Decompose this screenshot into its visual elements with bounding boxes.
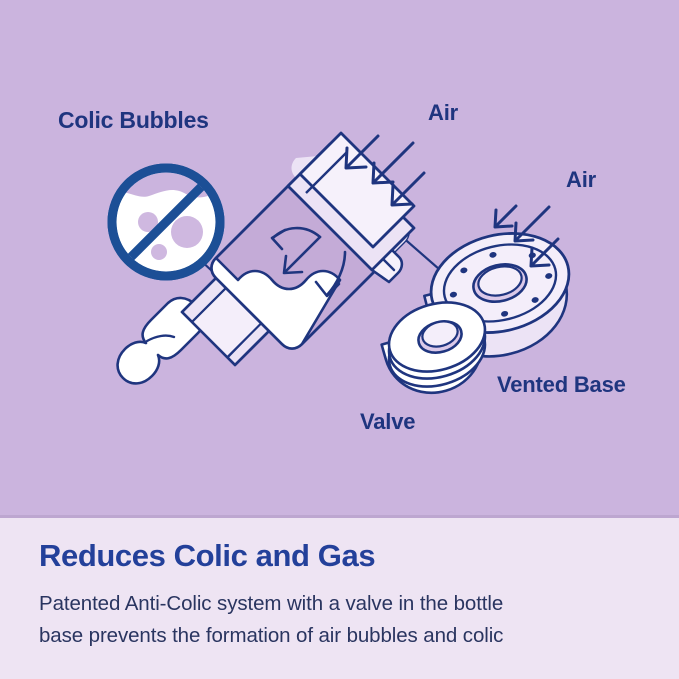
label-colic-bubbles: Colic Bubbles [58, 107, 209, 134]
air-arrow-2 [373, 143, 413, 183]
label-air-top: Air [428, 100, 458, 126]
label-valve: Valve [360, 409, 415, 435]
air-arrow-4 [495, 206, 516, 227]
anti-colic-diagram [0, 0, 679, 517]
product-feature-infographic: Colic Bubbles Air Air Valve Vented Base … [0, 0, 679, 679]
label-air-right: Air [566, 167, 596, 193]
label-vented-base: Vented Base [497, 372, 626, 398]
caption-body-line-2: base prevents the formation of air bubbl… [39, 624, 503, 648]
caption-body-line-1: Patented Anti-Colic system with a valve … [39, 592, 503, 616]
no-colic-bubbles-icon [112, 168, 222, 276]
caption-title: Reduces Colic and Gas [39, 538, 375, 574]
